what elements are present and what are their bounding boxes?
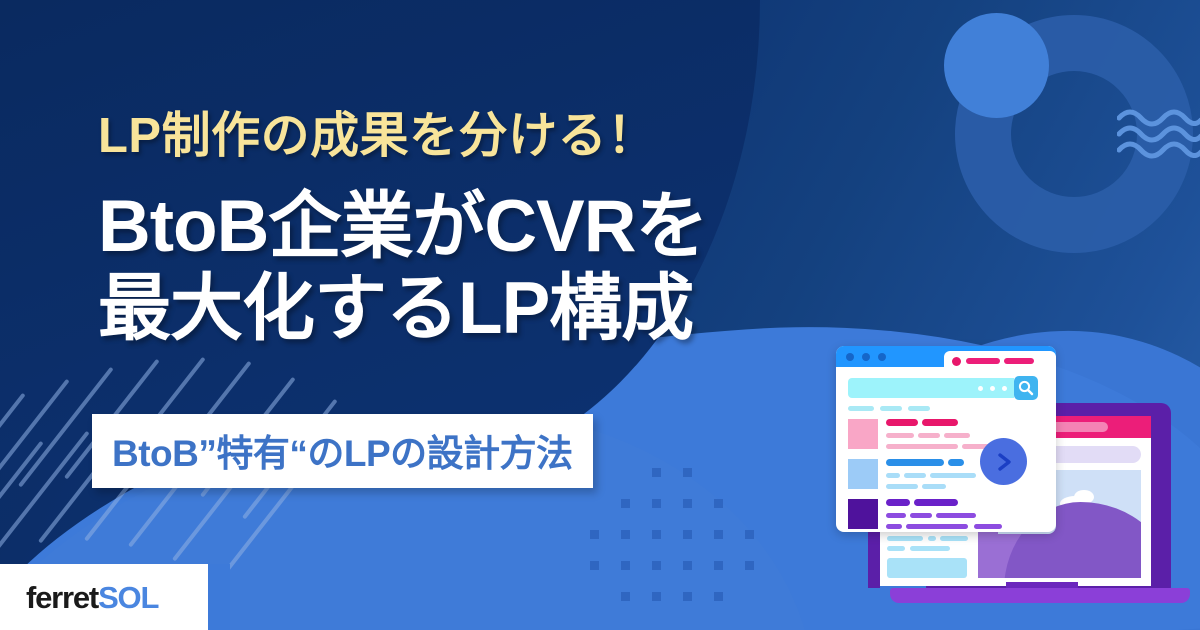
- grid-dot: [714, 530, 723, 539]
- grid-dot: [683, 468, 692, 477]
- grid-dot: [745, 530, 754, 539]
- search-icon: [1018, 380, 1034, 396]
- logo-bar: ferretSOL: [0, 564, 208, 630]
- thumbnail-canvas: LP制作の成果を分ける！ BtoB企業がCVRを 最大化するLP構成 BtoB”…: [0, 0, 1200, 630]
- subtitle-banner: BtoB”特有“のLPの設計方法: [92, 414, 593, 488]
- dot-grid-pattern: [590, 468, 760, 628]
- laptop-browser-illustration: [828, 330, 1200, 630]
- grid-dot: [590, 561, 599, 570]
- laptop-sidebar-strip: [868, 526, 880, 588]
- chevron-right-icon: [993, 451, 1015, 473]
- window-dot-icon: [878, 353, 886, 361]
- tab-favicon-icon: [952, 357, 961, 366]
- circle-shape-icon: [944, 13, 1049, 118]
- brand-logo: ferretSOL: [26, 582, 158, 613]
- grid-dot: [683, 530, 692, 539]
- headline-line-2: 最大化するLP構成: [98, 268, 707, 350]
- grid-dot: [652, 468, 661, 477]
- result-thumbnail: [848, 459, 878, 489]
- grid-dot: [745, 561, 754, 570]
- subtitle-text: BtoB”特有“のLPの設計方法: [112, 423, 573, 477]
- kicker-text: LP制作の成果を分ける！: [98, 96, 657, 167]
- grid-dot: [714, 592, 723, 601]
- grid-dot: [714, 561, 723, 570]
- window-dot-icon: [862, 353, 870, 361]
- laptop-base: [890, 588, 1190, 603]
- logo-secondary-text: SOL: [98, 580, 158, 615]
- logo-primary-text: ferret: [26, 580, 98, 615]
- grid-dot: [621, 592, 630, 601]
- tab-title-line: [966, 358, 1000, 364]
- search-placeholder-dots: [976, 378, 1014, 398]
- logo-accent-bar: [208, 564, 230, 630]
- search-input[interactable]: [848, 378, 976, 398]
- wave-lines-icon: [1117, 106, 1200, 162]
- headline-line-1: BtoB企業がCVRを: [98, 186, 707, 268]
- grid-dot: [621, 499, 630, 508]
- grid-dot: [652, 592, 661, 601]
- grid-dot: [652, 561, 661, 570]
- grid-dot: [590, 530, 599, 539]
- grid-dot: [683, 499, 692, 508]
- grid-dot: [621, 561, 630, 570]
- grid-dot: [714, 499, 723, 508]
- grid-dot: [652, 530, 661, 539]
- window-dot-icon: [846, 353, 854, 361]
- laptop-content-panel: [880, 528, 978, 586]
- grid-dot: [621, 530, 630, 539]
- page-title: BtoB企業がCVRを 最大化するLP構成: [98, 186, 707, 350]
- result-thumbnail: [848, 419, 878, 449]
- next-arrow-button[interactable]: [980, 438, 1027, 485]
- result-thumbnail: [848, 499, 878, 529]
- search-button[interactable]: [1014, 376, 1038, 400]
- grid-dot: [683, 561, 692, 570]
- grid-dot: [683, 592, 692, 601]
- tab-title-line: [1004, 358, 1034, 364]
- grid-dot: [652, 499, 661, 508]
- browser-window[interactable]: [836, 346, 1056, 532]
